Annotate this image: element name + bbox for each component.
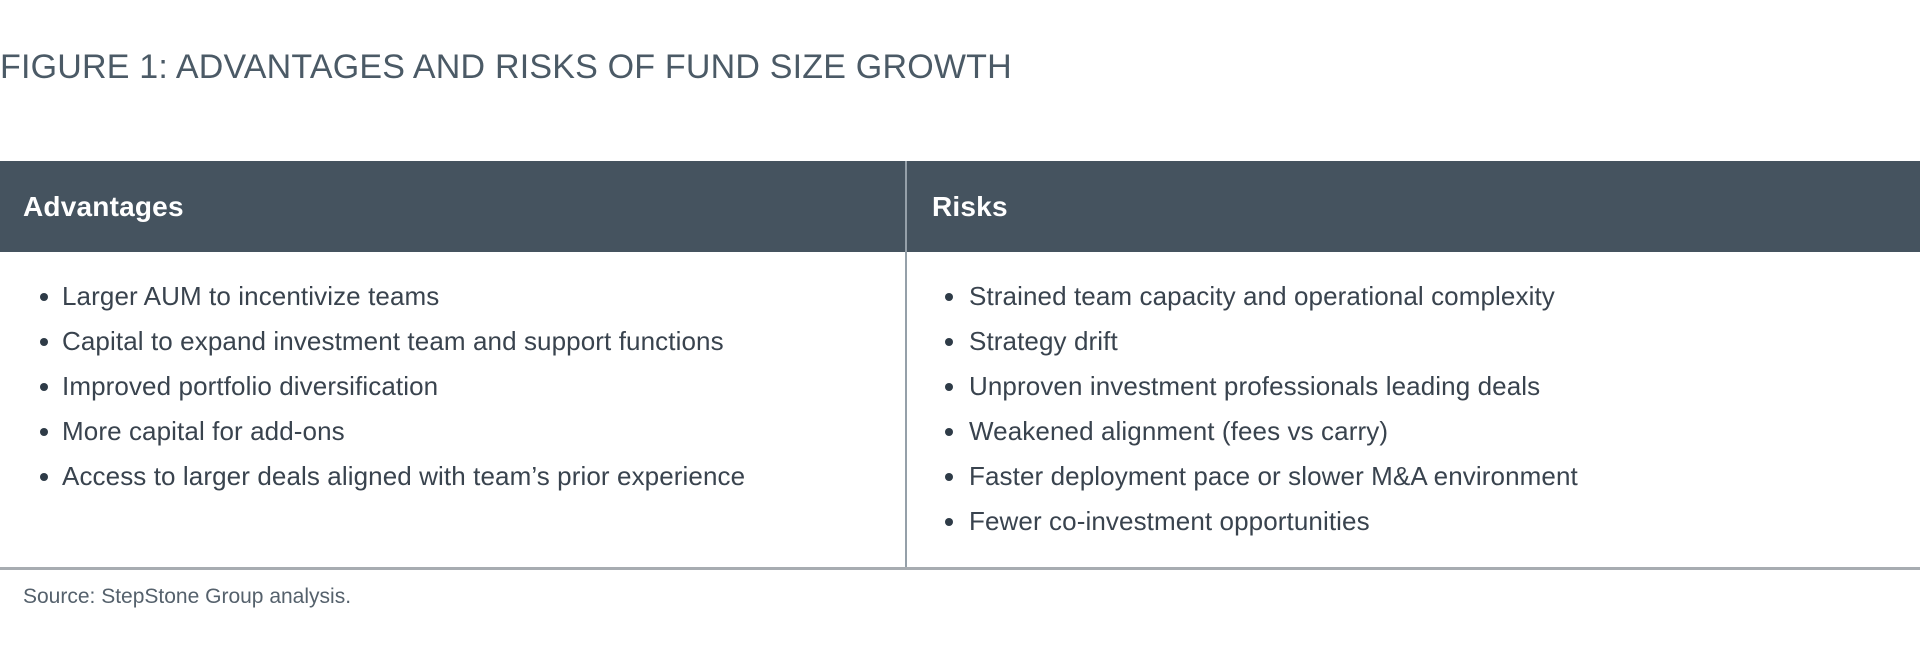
list-item-label: Fewer co-investment opportunities	[969, 506, 1370, 536]
list-item-label: Faster deployment pace or slower M&A env…	[969, 461, 1578, 491]
list-item: Fewer co-investment opportunities	[907, 499, 1920, 544]
table-cell-risks: Strained team capacity and operational c…	[905, 252, 1920, 567]
bullet-icon	[945, 473, 953, 481]
list-item: More capital for add-ons	[0, 409, 905, 454]
list-item-label: Larger AUM to incentivize teams	[62, 281, 439, 311]
list-item-label: Access to larger deals aligned with team…	[62, 461, 745, 491]
list-item: Capital to expand investment team and su…	[0, 319, 905, 364]
bullet-icon	[40, 293, 48, 301]
list-item-label: Weakened alignment (fees vs carry)	[969, 416, 1388, 446]
bullet-icon	[40, 383, 48, 391]
page-title: FIGURE 1: ADVANTAGES AND RISKS OF FUND S…	[0, 47, 1012, 87]
bullet-icon	[945, 383, 953, 391]
list-item: Improved portfolio diversification	[0, 364, 905, 409]
list-item-label: Unproven investment professionals leadin…	[969, 371, 1540, 401]
table-cell-advantages: Larger AUM to incentivize teams Capital …	[0, 252, 905, 567]
bullet-icon	[40, 338, 48, 346]
list-item-label: Capital to expand investment team and su…	[62, 326, 724, 356]
table-header-cell-risks: Risks	[905, 161, 1920, 252]
list-item-label: Strained team capacity and operational c…	[969, 281, 1555, 311]
bullet-icon	[945, 428, 953, 436]
list-item-label: Improved portfolio diversification	[62, 371, 438, 401]
bullet-icon	[40, 428, 48, 436]
table-body-row: Larger AUM to incentivize teams Capital …	[0, 252, 1920, 567]
list-item: Access to larger deals aligned with team…	[0, 454, 905, 499]
list-item: Unproven investment professionals leadin…	[907, 364, 1920, 409]
list-item: Larger AUM to incentivize teams	[0, 274, 905, 319]
figure-container: FIGURE 1: ADVANTAGES AND RISKS OF FUND S…	[0, 0, 1920, 646]
advantages-list: Larger AUM to incentivize teams Capital …	[0, 274, 905, 499]
table-header-cell-advantages: Advantages	[0, 161, 905, 252]
risks-list: Strained team capacity and operational c…	[907, 274, 1920, 544]
list-item: Strategy drift	[907, 319, 1920, 364]
column-header-label-risks: Risks	[932, 191, 1008, 223]
bullet-icon	[40, 473, 48, 481]
list-item: Weakened alignment (fees vs carry)	[907, 409, 1920, 454]
comparison-table: Advantages Risks Larger AUM to incentivi…	[0, 161, 1920, 567]
source-note: Source: StepStone Group analysis.	[23, 584, 351, 610]
footer-divider	[0, 567, 1920, 570]
list-item-label: Strategy drift	[969, 326, 1118, 356]
list-item: Strained team capacity and operational c…	[907, 274, 1920, 319]
bullet-icon	[945, 338, 953, 346]
list-item: Faster deployment pace or slower M&A env…	[907, 454, 1920, 499]
bullet-icon	[945, 293, 953, 301]
bullet-icon	[945, 518, 953, 526]
list-item-label: More capital for add-ons	[62, 416, 345, 446]
column-header-label-advantages: Advantages	[23, 191, 184, 223]
table-header-row: Advantages Risks	[0, 161, 1920, 252]
